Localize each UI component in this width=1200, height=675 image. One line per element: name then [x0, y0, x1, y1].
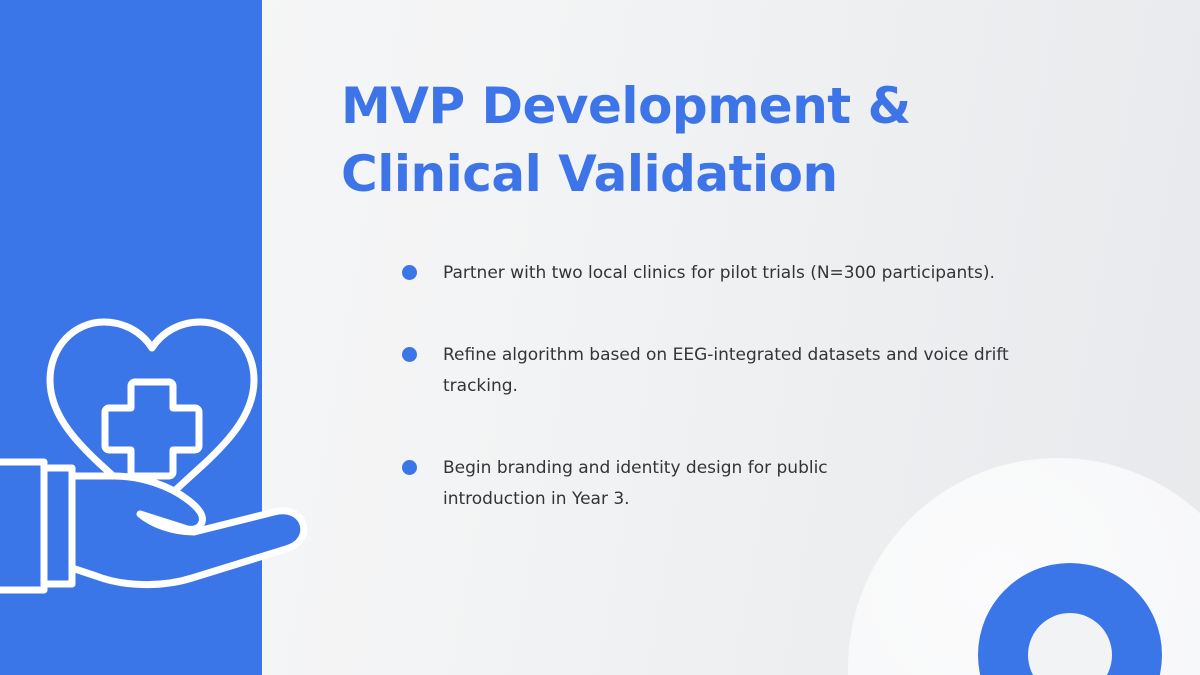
hand-holding-heart-with-medical-cross-icon	[0, 300, 342, 590]
bullet-dot-icon	[402, 460, 417, 475]
list-item: Partner with two local clinics for pilot…	[402, 258, 1102, 289]
page-title-line-2: Clinical Validation	[341, 140, 961, 208]
list-item: Refine algorithm based on EEG-integrated…	[402, 340, 1102, 402]
page-title-line-1: MVP Development &	[341, 72, 961, 140]
list-item-label: Begin branding and identity design for p…	[443, 453, 883, 515]
list-item-label: Partner with two local clinics for pilot…	[443, 258, 1102, 289]
bullet-dot-icon	[402, 265, 417, 280]
bullet-list: Partner with two local clinics for pilot…	[402, 258, 1102, 515]
content-area: MVP Development & Clinical Validation Pa…	[341, 0, 1141, 675]
page-title: MVP Development & Clinical Validation	[341, 72, 961, 208]
bullet-dot-icon	[402, 347, 417, 362]
list-item-label: Refine algorithm based on EEG-integrated…	[443, 340, 1043, 402]
list-item: Begin branding and identity design for p…	[402, 453, 1102, 515]
slide-root: MVP Development & Clinical Validation Pa…	[0, 0, 1200, 675]
